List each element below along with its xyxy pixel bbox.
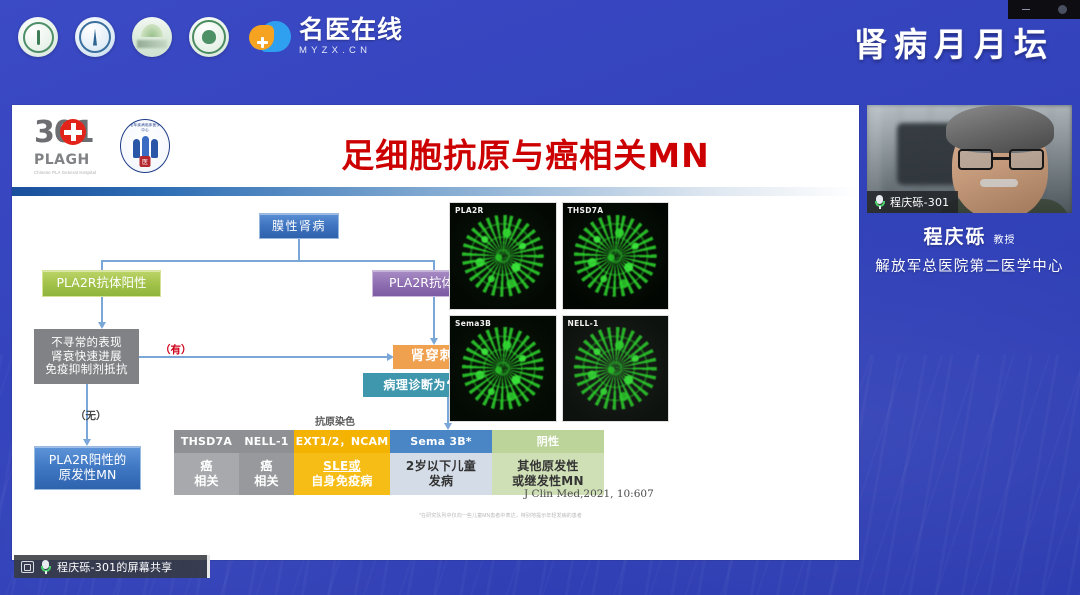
table-cell-line1: 癌 (174, 459, 239, 474)
edge-bus-right (433, 260, 435, 270)
glasses-icon (958, 149, 1044, 171)
micrograph-panel: PLA2R THSD7A Sema3B NELL-1 (449, 202, 669, 422)
arrow-purple-down-icon (430, 338, 438, 345)
slide-title: 足细胞抗原与癌相关MN (12, 129, 859, 177)
edge-green-down (101, 297, 103, 322)
microphone-icon (40, 560, 51, 574)
microphone-icon (874, 195, 885, 209)
org-logo-4-icon (189, 17, 229, 57)
play-plus-icon (249, 19, 291, 55)
avatar (940, 109, 1066, 213)
edge-purple-down (433, 297, 435, 338)
screen-share-label: 程庆砾-301的屏幕共享 (57, 559, 172, 575)
org-logo-2-icon (75, 17, 115, 57)
flow-node-label-line2: 肾衰快速进展 (51, 350, 122, 364)
edge-label-antigen-stain: 抗原染色 (315, 413, 355, 428)
org-logo-3-icon (132, 17, 172, 57)
glomerulus-fluorescence-icon (574, 327, 656, 409)
micrograph-label: PLA2R (455, 206, 484, 215)
flow-node-label: 膜性肾病 (272, 219, 326, 233)
minimize-button[interactable] (1019, 3, 1033, 17)
micrograph-thsd7a: THSD7A (562, 202, 670, 310)
table-header-cell: 阴性 (492, 430, 604, 453)
table-cell-line2: 发病 (390, 474, 492, 489)
citation: J Clin Med,2021, 10:607 (524, 488, 654, 500)
edge-label-yes: （有） (160, 342, 192, 357)
table-header-cell: NELL-1 (239, 430, 294, 453)
table-cell: 2岁以下儿童 发病 (390, 453, 492, 495)
screen-share-icon (21, 561, 34, 573)
micrograph-sema3b: Sema3B (449, 315, 557, 423)
table-cell-line1: SLE或 (294, 459, 390, 474)
flow-node-label-line1: PLA2R阳性的 (49, 453, 126, 468)
brand-name-en: MYZX.CN (299, 46, 403, 56)
table-header-row: THSD7A NELL-1 EXT1/2，NCAM Sema 3B* 阴性 (174, 430, 604, 453)
glomerulus-fluorescence-icon (462, 215, 544, 297)
flow-node-pla2r-positive[interactable]: PLA2R抗体阳性 (42, 270, 161, 297)
table-header-cell: Sema 3B* (390, 430, 492, 453)
org-logo-1-icon (18, 17, 58, 57)
video-name-chip: 程庆砾-301 (867, 191, 958, 213)
table-header-cell: THSD7A (174, 430, 239, 453)
arrow-pathdx-down-icon (444, 423, 452, 430)
presenter-name: 程庆砾 (923, 222, 986, 249)
edge-label-no: （无） (75, 408, 107, 423)
flow-node-label-line2: 原发性MN (59, 468, 117, 483)
brand-name-cn: 名医在线 (299, 18, 403, 43)
table-cell-line2: 或继发性MN (492, 474, 604, 489)
table-cell: SLE或 自身免疫病 (294, 453, 390, 495)
flow-node-label: PLA2R抗体阳性 (57, 276, 147, 291)
flow-node-label-line1: 不寻常的表现 (51, 336, 122, 350)
table-header-cell: EXT1/2，NCAM (294, 430, 390, 453)
presenter-rank: 教授 (994, 231, 1016, 246)
flow-node-label-line3: 免疫抑制剂抵抗 (45, 363, 128, 377)
window-controls (1008, 0, 1080, 19)
maximize-button[interactable] (1055, 3, 1069, 17)
micrograph-nell1: NELL-1 (562, 315, 670, 423)
flow-node-atypical-features[interactable]: 不寻常的表现 肾衰快速进展 免疫抑制剂抵抗 (34, 329, 139, 384)
micrograph-pla2r: PLA2R (449, 202, 557, 310)
video-participant-name: 程庆砾-301 (890, 194, 949, 210)
table-cell-line2: 相关 (239, 474, 294, 489)
table-cell-line1: 其他原发性 (492, 459, 604, 474)
table-cell: 癌 相关 (174, 453, 239, 495)
flow-node-primary-mn[interactable]: PLA2R阳性的 原发性MN (34, 446, 141, 490)
glomerulus-fluorescence-icon (574, 215, 656, 297)
screen-share-status-bar[interactable]: 程庆砾-301的屏幕共享 (14, 555, 210, 578)
table-cell-line2: 相关 (174, 474, 239, 489)
antigen-results-table: THSD7A NELL-1 EXT1/2，NCAM Sema 3B* 阴性 癌 … (174, 430, 604, 495)
flow-node-membranous-nephropathy[interactable]: 膜性肾病 (259, 213, 339, 239)
slide-header: 301 PLAGH Chinese PLA General Hospital 国… (12, 105, 859, 187)
presenter-affiliation: 解放军总医院第二医学中心 (867, 255, 1072, 276)
title-divider (12, 187, 859, 196)
event-title: 肾病月月坛 (854, 18, 1054, 66)
presenter-video-tile[interactable]: 程庆砾-301 (867, 105, 1072, 213)
edge-bus (101, 260, 435, 262)
slide-body: 膜性肾病 PLA2R抗体阳性 PLA2R抗体阴性 不寻常的表现 肾衰快速进展 免… (12, 196, 859, 560)
edge-mn-down (298, 239, 300, 261)
glomerulus-fluorescence-icon (462, 327, 544, 409)
arrow-green-down-icon (98, 322, 106, 329)
edge-bus-left (101, 260, 103, 270)
shared-slide: 301 PLAGH Chinese PLA General Hospital 国… (12, 105, 859, 560)
table-cell-line1: 癌 (239, 459, 294, 474)
micrograph-label: THSD7A (568, 206, 604, 215)
table-cell-line1: 2岁以下儿童 (390, 459, 492, 474)
presenter-panel: 程庆砾-301 程庆砾 教授 解放军总医院第二医学中心 (867, 105, 1072, 313)
table-cell: 癌 相关 (239, 453, 294, 495)
arrow-atypical-down-icon (83, 439, 91, 446)
micrograph-label: NELL-1 (568, 319, 599, 328)
micrograph-label: Sema3B (455, 319, 491, 328)
brand-logo: 名医在线 MYZX.CN (249, 18, 403, 56)
table-cell-line2: 自身免疫病 (294, 474, 390, 489)
table-footnote: *在研究队列中仅向一些儿童MN患者中表达，特别地提示年轻发病的患者 (312, 512, 582, 519)
organization-logo-strip: 名医在线 MYZX.CN (18, 17, 403, 57)
presenter-info: 程庆砾 教授 解放军总医院第二医学中心 (867, 213, 1072, 276)
